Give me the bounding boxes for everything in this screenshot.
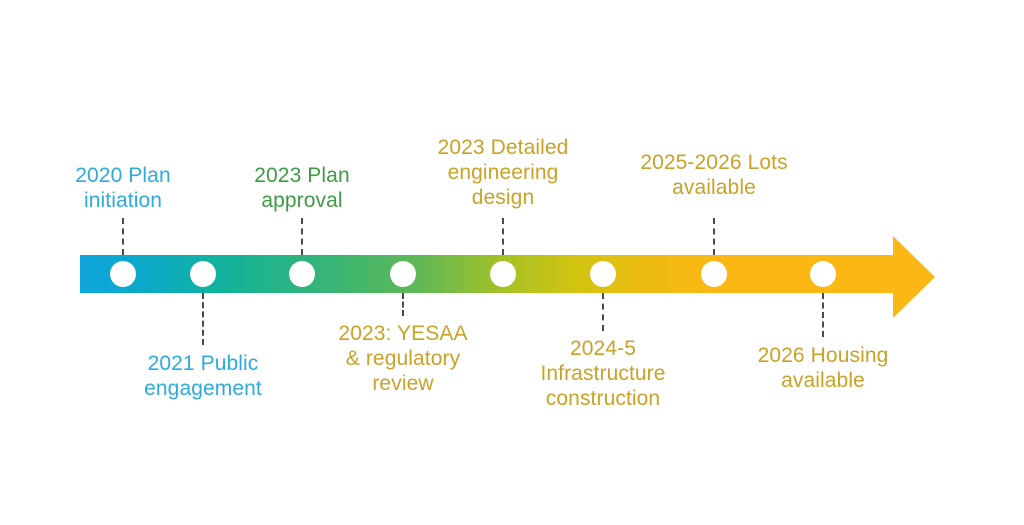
timeline-infographic: 2020 Plan initiation2021 Public engageme… — [0, 0, 1024, 525]
connector-line-yesaa-regulatory-review — [402, 293, 404, 316]
milestone-label-lots-available: 2025-2026 Lots available — [574, 151, 854, 201]
milestone-dot-housing-available[interactable] — [810, 261, 836, 287]
milestone-dot-lots-available[interactable] — [701, 261, 727, 287]
milestone-dot-infrastructure-construction[interactable] — [590, 261, 616, 287]
milestone-dot-plan-initiation[interactable] — [110, 261, 136, 287]
connector-line-plan-approval — [301, 218, 303, 255]
milestone-label-housing-available: 2026 Housing available — [683, 344, 963, 394]
timeline-arrow-graphic — [0, 0, 1024, 525]
connector-line-lots-available — [713, 218, 715, 255]
connector-line-detailed-engineering-design — [502, 218, 504, 255]
milestone-dot-plan-approval[interactable] — [289, 261, 315, 287]
connector-line-housing-available — [822, 293, 824, 337]
milestone-dot-yesaa-regulatory-review[interactable] — [390, 261, 416, 287]
connector-line-public-engagement — [202, 293, 204, 345]
milestone-dot-detailed-engineering-design[interactable] — [490, 261, 516, 287]
connector-line-plan-initiation — [122, 218, 124, 255]
connector-line-infrastructure-construction — [602, 293, 604, 331]
milestone-dot-public-engagement[interactable] — [190, 261, 216, 287]
